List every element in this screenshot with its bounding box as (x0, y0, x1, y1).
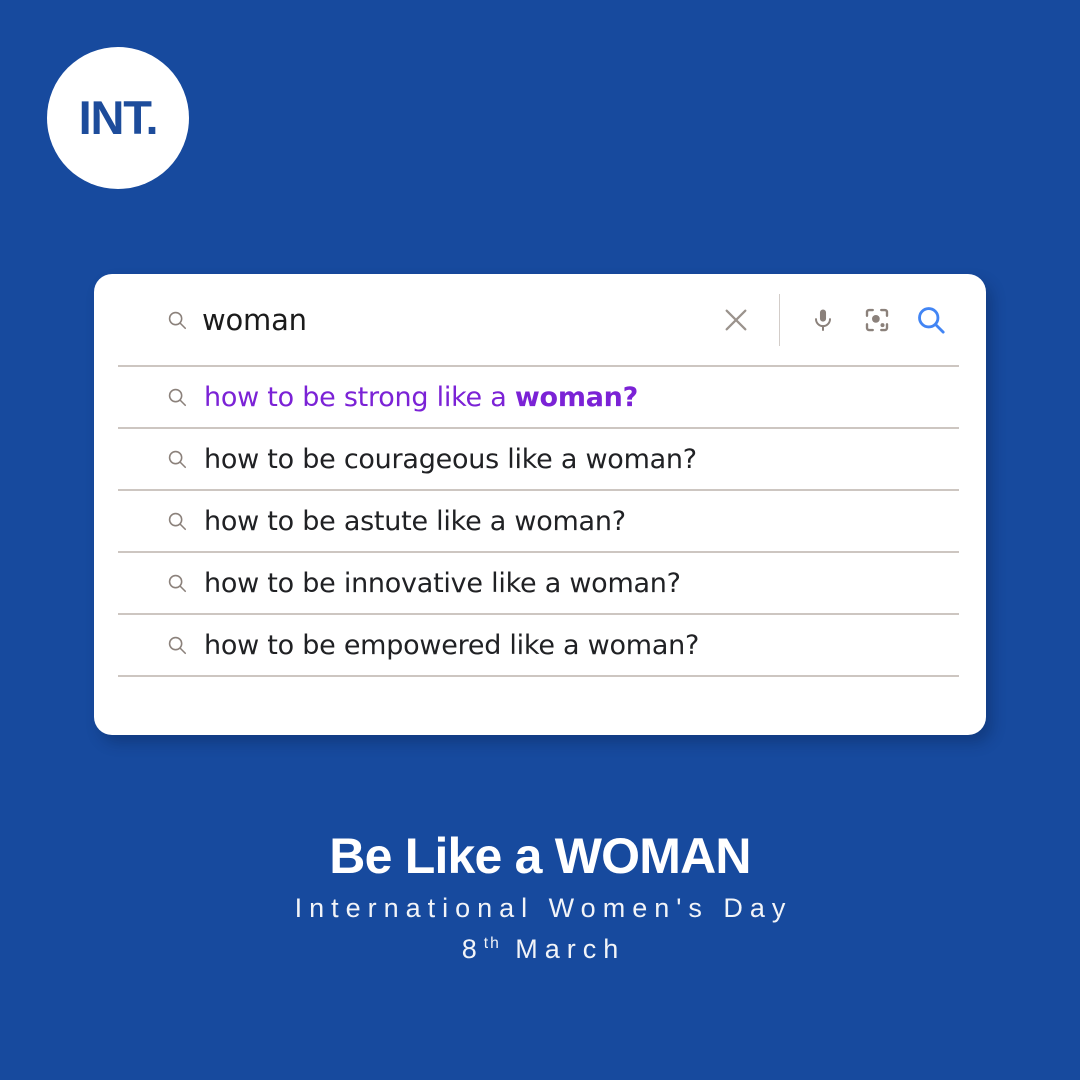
poster-canvas: INT. woman (0, 0, 1080, 1080)
suggestion-prefix: how to be strong like a (204, 382, 515, 413)
suggestion-item[interactable]: how to be strong like a woman? (94, 367, 986, 427)
page-subtitle: International Women's Day (0, 893, 1080, 924)
date-ordinal: th (484, 935, 501, 952)
date-month: March (515, 934, 625, 964)
clear-query-button[interactable] (709, 293, 763, 347)
lens-search-button[interactable] (850, 293, 904, 347)
brand-logo: INT. (47, 47, 189, 189)
suggestion-label: how to be strong like a woman? (204, 382, 638, 413)
search-card: woman (94, 274, 986, 735)
submit-search-button[interactable] (904, 293, 958, 347)
suggestion-divider (118, 675, 959, 677)
brand-logo-text: INT. (79, 94, 158, 141)
search-icon (166, 386, 188, 408)
search-query-row[interactable]: woman (94, 274, 986, 365)
microphone-icon (809, 306, 837, 334)
search-icon (914, 303, 948, 337)
voice-search-button[interactable] (796, 293, 850, 347)
suggestion-item[interactable]: how to be astute like a woman? (94, 491, 986, 551)
google-lens-icon (862, 305, 892, 335)
search-icon (166, 634, 188, 656)
suggestion-item[interactable]: how to be innovative like a woman? (94, 553, 986, 613)
suggestion-label: how to be innovative like a woman? (204, 568, 681, 599)
search-icon (166, 448, 188, 470)
search-input[interactable]: woman (202, 303, 307, 337)
search-action-group (709, 274, 958, 365)
page-title: Be Like a WOMAN (0, 826, 1080, 886)
suggestion-highlight: woman? (515, 382, 638, 413)
suggestion-label: how to be astute like a woman? (204, 506, 626, 537)
page-dateline: 8th March (0, 934, 1080, 965)
suggestion-label: how to be courageous like a woman? (204, 444, 697, 475)
search-icon (166, 510, 188, 532)
close-icon (720, 304, 752, 336)
suggestion-label: how to be empowered like a woman? (204, 630, 699, 661)
vertical-divider (779, 294, 780, 346)
search-icon (166, 309, 188, 331)
suggestion-item[interactable]: how to be empowered like a woman? (94, 615, 986, 675)
suggestion-item[interactable]: how to be courageous like a woman? (94, 429, 986, 489)
date-number: 8 (462, 934, 484, 964)
search-icon (166, 572, 188, 594)
